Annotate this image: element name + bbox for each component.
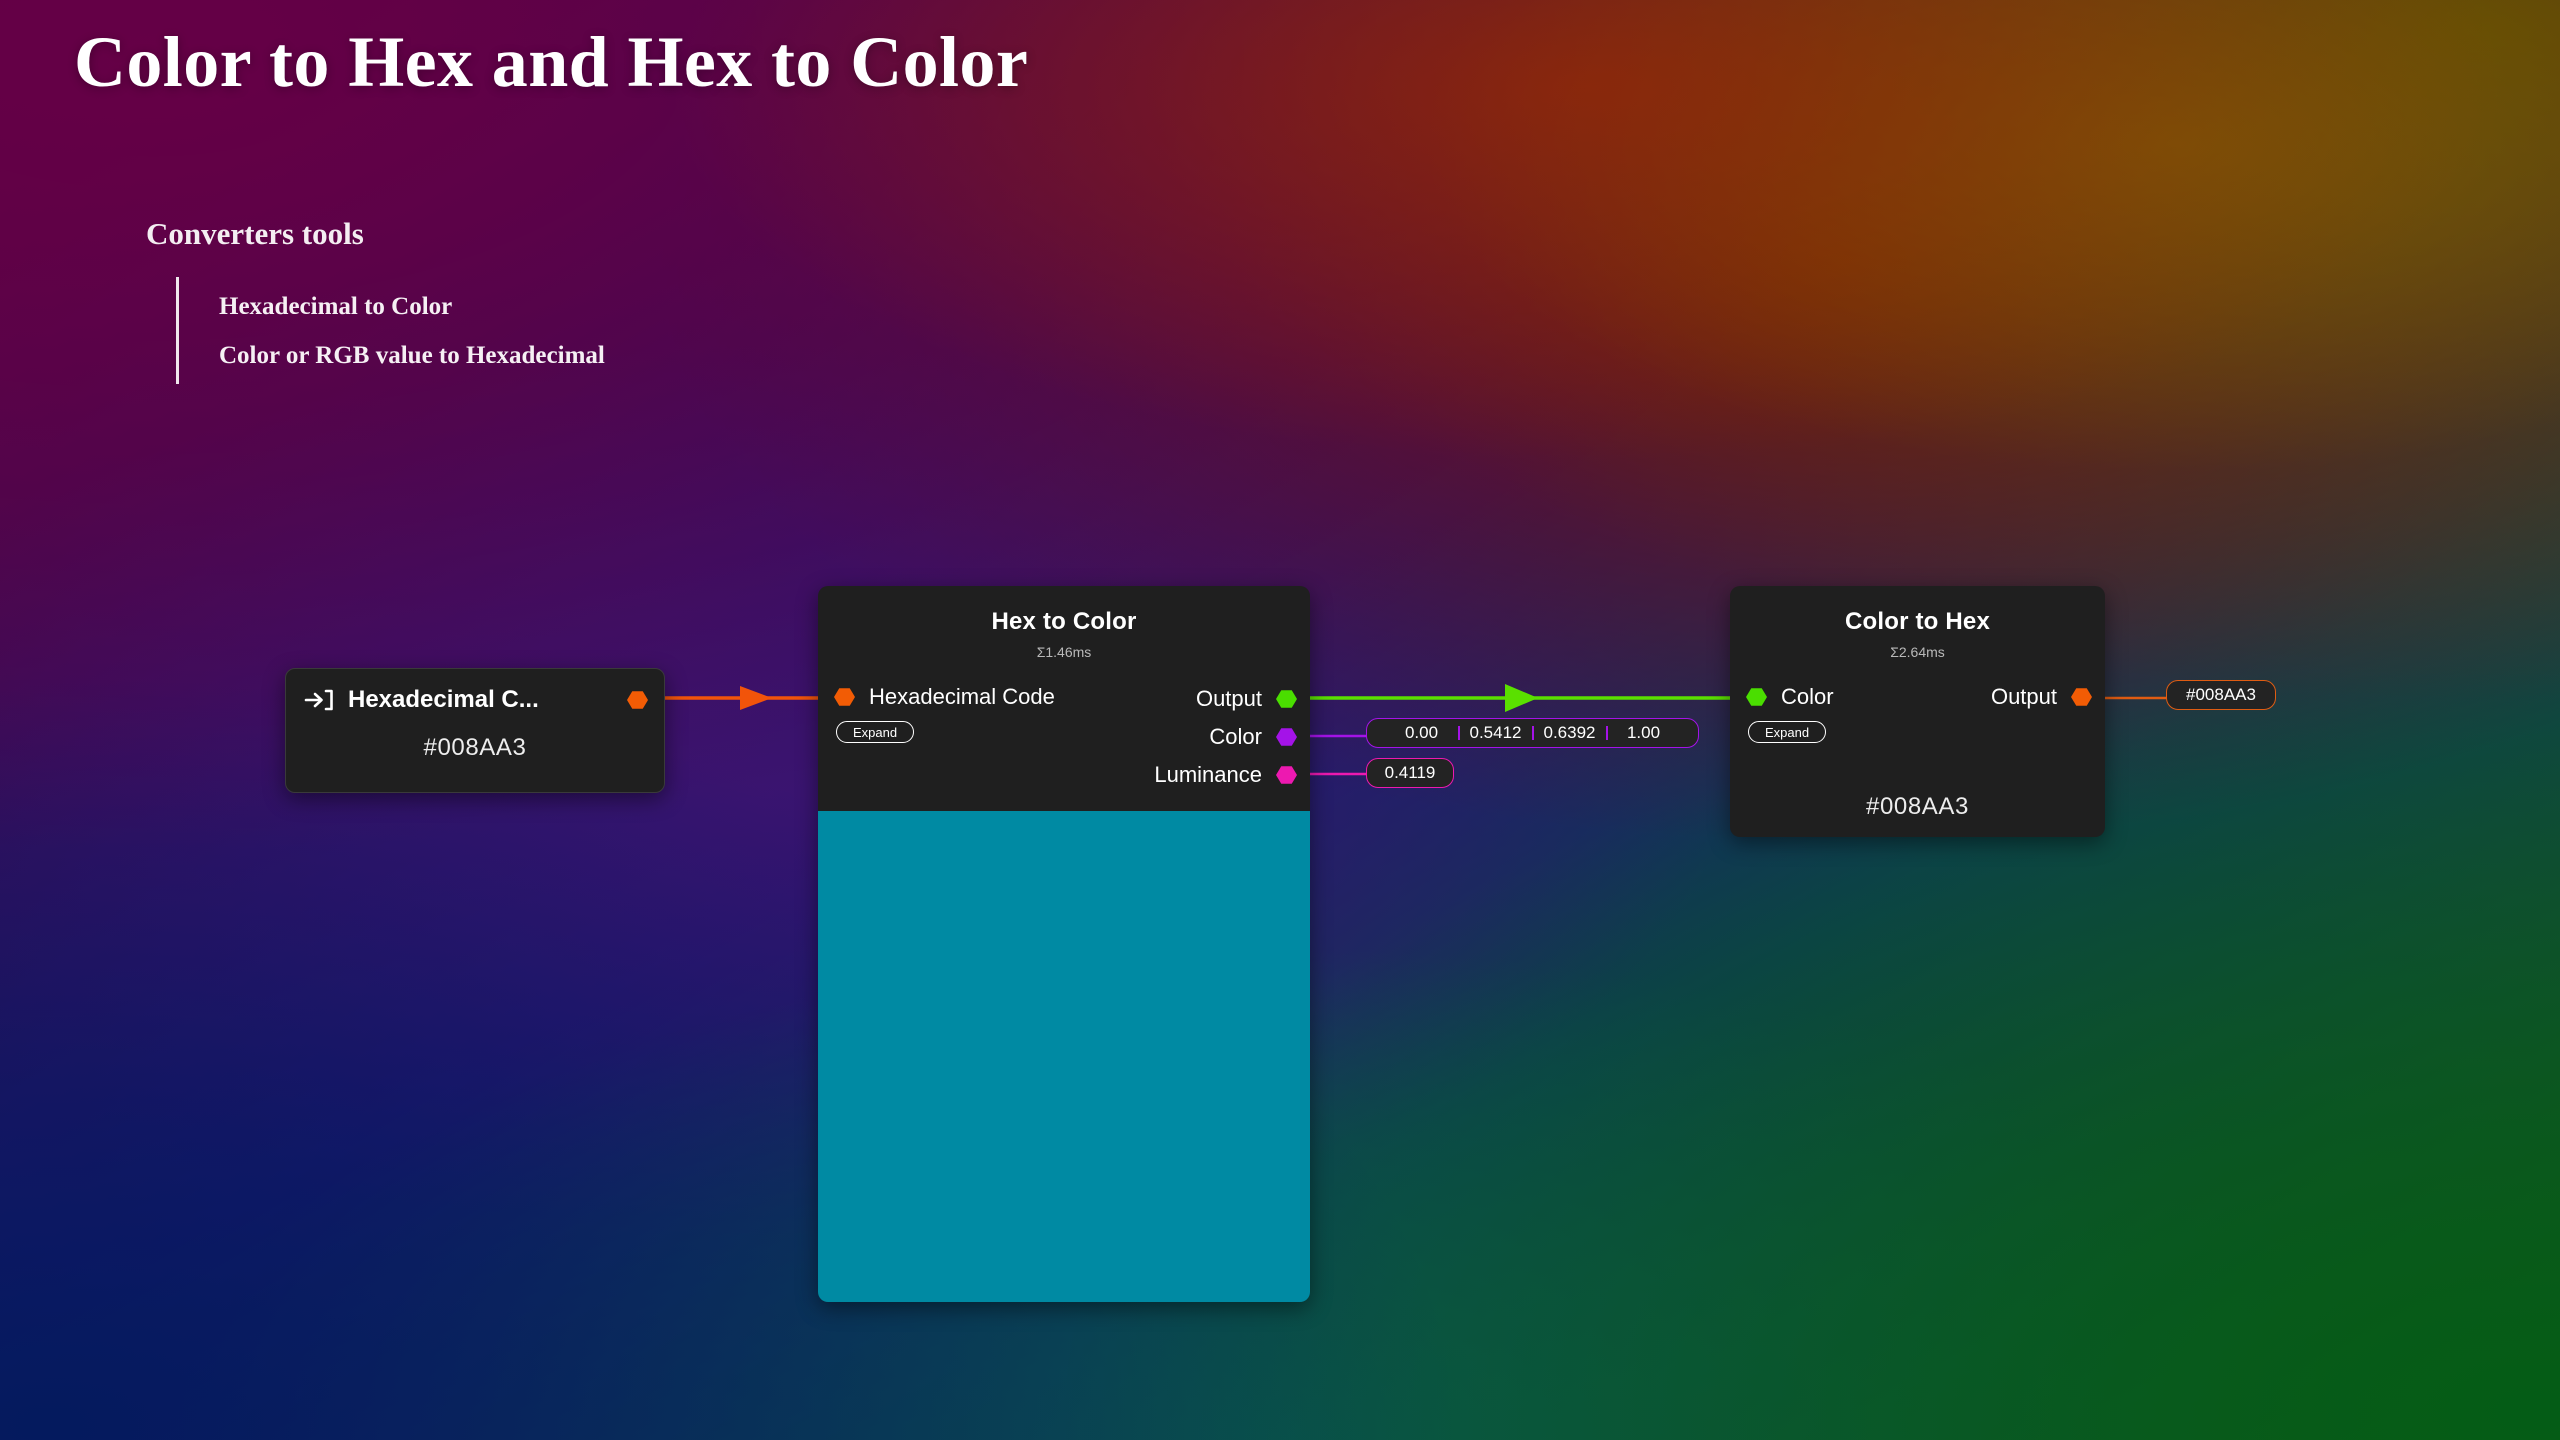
chip-separator: [1606, 726, 1608, 740]
node-value: #008AA3: [1730, 793, 2105, 821]
expand-button-wrap[interactable]: Expand: [1748, 721, 1826, 743]
output-port-label: Output: [1196, 686, 1262, 712]
node-exec-time: Σ1.46ms: [818, 644, 1310, 660]
color-component-r: 0.00: [1394, 723, 1450, 743]
node-title: Hex to Color: [818, 608, 1310, 636]
output-port-green-icon[interactable]: [1276, 690, 1297, 709]
output-port-label: Output: [1991, 684, 2057, 710]
color-preview-swatch: [818, 811, 1310, 1302]
node-body: Color to Hex Σ2.64ms Color Expand Output: [1730, 586, 2105, 750]
chip-separator: [1532, 726, 1534, 740]
output-port-orange-icon[interactable]: [2071, 688, 2092, 707]
final-output-chip[interactable]: #008AA3: [2166, 680, 2276, 710]
output-port-color[interactable]: Color: [1209, 718, 1297, 756]
input-port-color[interactable]: Color: [1746, 680, 1834, 714]
expand-button[interactable]: Expand: [1748, 721, 1826, 743]
node-value: #008AA3: [286, 734, 664, 762]
color-vector-chip[interactable]: 0.00 0.5412 0.6392 1.00: [1366, 718, 1699, 748]
node-body: Hex to Color Σ1.46ms Hexadecimal Code Ex…: [818, 586, 1310, 800]
input-port-green-icon[interactable]: [1746, 688, 1767, 707]
input-port-orange-icon[interactable]: [834, 688, 855, 707]
output-port-label: Luminance: [1154, 762, 1262, 788]
output-port-output[interactable]: Output: [1991, 680, 2092, 714]
output-port-label: Color: [1209, 724, 1262, 750]
node-graph[interactable]: Hexadecimal C... #008AA3 Hex to Color Σ1…: [0, 0, 2560, 1440]
node-title: Color to Hex: [1730, 608, 2105, 636]
input-port-label: Hexadecimal Code: [869, 684, 1055, 710]
output-port-luminance[interactable]: Luminance: [1154, 756, 1297, 794]
expand-button[interactable]: Expand: [836, 721, 914, 743]
node-ports: Hexadecimal Code Expand Output Color: [818, 680, 1310, 800]
node-color-to-hex[interactable]: Color to Hex Σ2.64ms Color Expand Output: [1730, 586, 2105, 837]
color-component-b: 0.6392: [1542, 723, 1598, 743]
expand-button-wrap[interactable]: Expand: [836, 721, 914, 743]
import-arrow-icon: [304, 687, 334, 713]
color-component-g: 0.5412: [1468, 723, 1524, 743]
color-component-a: 1.00: [1616, 723, 1672, 743]
output-ports: Output Color Luminance: [1154, 680, 1297, 794]
canvas-root: Color to Hex and Hex to Color Converters…: [0, 0, 2560, 1440]
output-port-purple-icon[interactable]: [1276, 728, 1297, 747]
output-port-output[interactable]: Output: [1196, 680, 1297, 718]
node-title: Hexadecimal C...: [348, 686, 613, 714]
chip-separator: [1458, 726, 1460, 740]
input-port-label: Color: [1781, 684, 1834, 710]
input-port-hexadecimal-code[interactable]: Hexadecimal Code: [834, 680, 1055, 714]
node-hex-to-color[interactable]: Hex to Color Σ1.46ms Hexadecimal Code Ex…: [818, 586, 1310, 1302]
luminance-chip[interactable]: 0.4119: [1366, 758, 1454, 788]
node-header: Hexadecimal C...: [286, 669, 664, 714]
node-ports: Color Expand Output: [1730, 680, 2105, 750]
output-port-orange[interactable]: [627, 691, 648, 710]
node-exec-time: Σ2.64ms: [1730, 644, 2105, 660]
output-port-pink-icon[interactable]: [1276, 766, 1297, 785]
node-hexadecimal-constant[interactable]: Hexadecimal C... #008AA3: [285, 668, 665, 793]
